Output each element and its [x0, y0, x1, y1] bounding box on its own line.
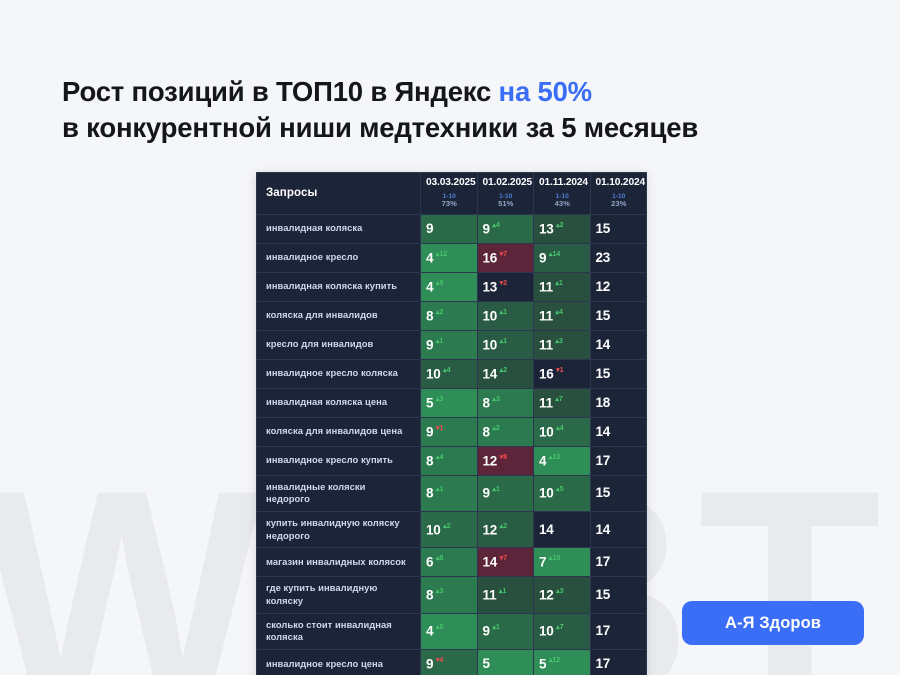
- rank-value: 9: [483, 624, 490, 639]
- rank-delta-up-icon: ▴3: [556, 586, 563, 595]
- rank-delta-up-icon: ▴14: [549, 249, 560, 258]
- rank-value: 10: [539, 486, 554, 501]
- rank-delta-up-icon: ▴1: [492, 484, 499, 493]
- rank-value: 5: [426, 395, 433, 410]
- rank-value: 7: [539, 555, 546, 570]
- rank-cell: 9▾4: [421, 650, 478, 675]
- rank-value: 9: [426, 337, 433, 352]
- rank-value: 10: [539, 424, 554, 439]
- header-date-box: 01.10.20241-1023%: [591, 173, 647, 214]
- rank-cell: 10▴2: [421, 512, 478, 548]
- rank-delta-up-icon: ▴9: [436, 278, 443, 287]
- rank-value: 12: [483, 453, 498, 468]
- rank-value: 14: [596, 424, 611, 439]
- rank-delta-up-icon: ▴3: [436, 586, 443, 595]
- rank-cell: 14▾7: [477, 548, 534, 577]
- rank-value: 8: [426, 453, 433, 468]
- rank-delta-up-icon: ▴7: [556, 622, 563, 631]
- rank-delta-up-icon: ▴2: [492, 423, 499, 432]
- rank-value: 9: [539, 250, 546, 265]
- rank-value: 12: [539, 587, 554, 602]
- query-cell: инвалидное кресло купить: [257, 446, 421, 475]
- rank-delta-up-icon: ▴2: [443, 521, 450, 530]
- rank-value: 11: [539, 337, 553, 352]
- query-cell: инвалидное кресло цена: [257, 650, 421, 675]
- header-date-box: 01.02.20251-1051%: [478, 173, 534, 214]
- rank-value: 15: [596, 485, 611, 500]
- rank-cell: 14: [590, 330, 647, 359]
- rank-delta-up-icon: ▴1: [500, 336, 507, 345]
- rank-value: 10: [539, 624, 554, 639]
- rank-value: 4: [426, 250, 433, 265]
- rank-cell: 10▴4: [421, 359, 478, 388]
- rank-delta-up-icon: ▴3: [555, 336, 562, 345]
- title-accent-part: на 50%: [499, 76, 592, 107]
- rank-delta-down-icon: ▾1: [436, 423, 443, 432]
- rank-cell: 11▴1: [534, 272, 591, 301]
- rank-delta-up-icon: ▴3: [492, 394, 499, 403]
- header-date-column-2: 01.02.20251-1051%: [477, 173, 534, 215]
- header-row: Запросы 03.03.20251-1073%01.02.20251-105…: [257, 173, 647, 215]
- rank-delta-up-icon: ▴1: [436, 336, 443, 345]
- table-row: инвалидные коляски недорого8▴19▴110▴515: [257, 475, 647, 511]
- rank-cell: 15: [590, 577, 647, 613]
- rank-delta-up-icon: ▴5: [556, 484, 563, 493]
- rank-cell: 10▴1: [477, 301, 534, 330]
- rank-cell: 9▴1: [477, 613, 534, 649]
- query-cell: где купить инвалидную коляску: [257, 577, 421, 613]
- rank-cell: 9▴14: [534, 243, 591, 272]
- rank-value: 17: [596, 623, 611, 638]
- rank-delta-up-icon: ▴7: [555, 394, 562, 403]
- rank-cell: 5▴12: [534, 650, 591, 675]
- rank-cell: 10▴5: [534, 475, 591, 511]
- rank-delta-up-icon: ▴2: [500, 521, 507, 530]
- query-cell: кресло для инвалидов: [257, 330, 421, 359]
- rank-cell: 6▴8: [421, 548, 478, 577]
- header-date-column-3: 01.11.20241-1043%: [534, 173, 591, 215]
- rank-delta-up-icon: ▴8: [436, 553, 443, 562]
- rank-cell: 7▴10: [534, 548, 591, 577]
- rank-value: 5: [483, 656, 490, 671]
- rank-value: 14: [596, 337, 611, 352]
- rank-delta-up-icon: ▴4: [555, 307, 562, 316]
- rank-value: 10: [426, 522, 441, 537]
- rank-cell: 12▴2: [477, 512, 534, 548]
- title-line-1: Рост позиций в ТОП10 в Яндекс на 50%: [62, 74, 698, 110]
- rank-delta-up-icon: ▴12: [549, 655, 560, 664]
- rank-delta-up-icon: ▴12: [436, 249, 447, 258]
- rank-cell: 10▴7: [534, 613, 591, 649]
- rank-delta-up-icon: ▴2: [436, 307, 443, 316]
- table-row: коляска для инвалидов цена9▾18▴210▴414: [257, 417, 647, 446]
- table-row: инвалидное кресло купить8▴412▾84▴1317: [257, 446, 647, 475]
- rank-table: Запросы 03.03.20251-1073%01.02.20251-105…: [256, 172, 647, 675]
- rank-cell: 17: [590, 613, 647, 649]
- rank-delta-down-icon: ▾7: [500, 249, 507, 258]
- rank-cell: 8▴2: [421, 301, 478, 330]
- rank-cell: 15: [590, 301, 647, 330]
- rank-cell: 17: [590, 650, 647, 675]
- rank-value: 17: [596, 554, 611, 569]
- rank-delta-up-icon: ▴1: [555, 278, 562, 287]
- rank-cell: 16▾1: [534, 359, 591, 388]
- header-date-label: 01.02.2025: [483, 177, 530, 190]
- rank-value: 23: [596, 250, 611, 265]
- header-percent-label: 43%: [539, 200, 586, 208]
- rank-delta-up-icon: ▴4: [492, 220, 499, 229]
- rank-value: 16: [539, 366, 554, 381]
- rank-cell: 13▾2: [477, 272, 534, 301]
- rank-cell: 16▾7: [477, 243, 534, 272]
- rank-value: 9: [483, 486, 490, 501]
- rank-cell: 12▾8: [477, 446, 534, 475]
- rank-value: 8: [426, 308, 433, 323]
- rank-cell: 14▴2: [477, 359, 534, 388]
- rank-value: 9: [426, 424, 433, 439]
- rank-delta-up-icon: ▴13: [549, 452, 560, 461]
- header-percent-label: 51%: [483, 200, 530, 208]
- rank-value: 18: [596, 395, 611, 410]
- rank-cell: 8▴3: [421, 577, 478, 613]
- rank-delta-up-icon: ▴1: [499, 586, 506, 595]
- rank-delta-up-icon: ▴2: [500, 365, 507, 374]
- rank-value: 9: [426, 656, 433, 671]
- rank-value: 14: [596, 522, 611, 537]
- query-cell: инвалидное кресло: [257, 243, 421, 272]
- rank-value: 10: [426, 366, 441, 381]
- query-cell: купить инвалидную коляску недорого: [257, 512, 421, 548]
- rank-value: 11: [539, 395, 553, 410]
- rank-value: 14: [483, 555, 498, 570]
- rank-value: 8: [483, 395, 490, 410]
- rank-value: 14: [483, 366, 498, 381]
- cta-button[interactable]: А-Я Здоров: [682, 601, 864, 645]
- table-row: инвалидная коляска купить4▴913▾211▴112: [257, 272, 647, 301]
- rank-delta-up-icon: ▴3: [436, 394, 443, 403]
- rank-value: 13: [539, 221, 554, 236]
- rank-cell: 4▴9: [421, 272, 478, 301]
- rank-value: 4: [539, 453, 546, 468]
- rank-cell: 9▴4: [477, 214, 534, 243]
- table-body: инвалидная коляска99▴413▴215инвалидное к…: [257, 214, 647, 675]
- table-row: сколько стоит инвалидная коляска4▴59▴110…: [257, 613, 647, 649]
- rank-delta-down-icon: ▾4: [436, 655, 443, 664]
- rank-value: 13: [483, 279, 498, 294]
- table-row: где купить инвалидную коляску8▴311▴112▴3…: [257, 577, 647, 613]
- query-cell: коляска для инвалидов цена: [257, 417, 421, 446]
- rank-value: 15: [596, 308, 611, 323]
- rank-delta-up-icon: ▴4: [436, 452, 443, 461]
- query-cell: инвалидные коляски недорого: [257, 475, 421, 511]
- rank-cell: 14: [534, 512, 591, 548]
- query-cell: инвалидная коляска купить: [257, 272, 421, 301]
- header-date-box: 01.11.20241-1043%: [534, 173, 590, 214]
- rank-value: 8: [426, 486, 433, 501]
- rank-delta-down-icon: ▾8: [500, 452, 507, 461]
- rank-delta-up-icon: ▴1: [436, 484, 443, 493]
- page-title: Рост позиций в ТОП10 в Яндекс на 50% в к…: [62, 74, 698, 147]
- rank-delta-up-icon: ▴4: [443, 365, 450, 374]
- rank-cell: 8▴4: [421, 446, 478, 475]
- query-cell: инвалидное кресло коляска: [257, 359, 421, 388]
- header-percent-label: 23%: [596, 200, 643, 208]
- rank-delta-up-icon: ▴1: [492, 622, 499, 631]
- rank-value: 12: [483, 522, 498, 537]
- rank-cell: 13▴2: [534, 214, 591, 243]
- rank-value: 4: [426, 279, 433, 294]
- rank-value: 17: [596, 656, 611, 671]
- query-cell: магазин инвалидных колясок: [257, 548, 421, 577]
- rank-cell: 23: [590, 243, 647, 272]
- rank-cell: 9▴1: [421, 330, 478, 359]
- rank-value: 9: [483, 221, 490, 236]
- rank-value: 8: [426, 587, 433, 602]
- table-row: инвалидная коляска99▴413▴215: [257, 214, 647, 243]
- rank-delta-down-icon: ▾2: [500, 278, 507, 287]
- rank-value: 15: [596, 366, 611, 381]
- header-date-label: 03.03.2025: [426, 177, 473, 190]
- rank-value: 8: [483, 424, 490, 439]
- rank-value: 10: [483, 308, 498, 323]
- rank-value: 15: [596, 221, 611, 236]
- rank-cell: 11▴4: [534, 301, 591, 330]
- rank-cell: 15: [590, 475, 647, 511]
- rank-value: 6: [426, 555, 433, 570]
- rank-value: 16: [483, 250, 498, 265]
- rank-table-card: Запросы 03.03.20251-1073%01.02.20251-105…: [256, 172, 646, 675]
- table-row: инвалидное кресло коляска10▴414▴216▾115: [257, 359, 647, 388]
- rank-cell: 8▴1: [421, 475, 478, 511]
- rank-cell: 8▴2: [477, 417, 534, 446]
- rank-delta-down-icon: ▾1: [556, 365, 563, 374]
- rank-value: 9: [426, 221, 433, 236]
- rank-cell: 9▾1: [421, 417, 478, 446]
- rank-cell: 9: [421, 214, 478, 243]
- rank-value: 17: [596, 453, 611, 468]
- rank-cell: 4▴13: [534, 446, 591, 475]
- rank-delta-up-icon: ▴2: [556, 220, 563, 229]
- title-text-part: Рост позиций в ТОП10 в Яндекс: [62, 76, 499, 107]
- rank-value: 4: [426, 624, 433, 639]
- rank-cell: 18: [590, 388, 647, 417]
- rank-delta-down-icon: ▾7: [500, 553, 507, 562]
- rank-value: 14: [539, 522, 554, 537]
- header-date-box: 03.03.20251-1073%: [421, 173, 477, 214]
- rank-delta-up-icon: ▴4: [556, 423, 563, 432]
- rank-cell: 15: [590, 214, 647, 243]
- query-cell: инвалидная коляска: [257, 214, 421, 243]
- header-date-label: 01.10.2024: [596, 177, 643, 190]
- query-cell: сколько стоит инвалидная коляска: [257, 613, 421, 649]
- rank-cell: 5: [477, 650, 534, 675]
- table-header: Запросы 03.03.20251-1073%01.02.20251-105…: [257, 173, 647, 215]
- rank-delta-up-icon: ▴1: [500, 307, 507, 316]
- query-cell: инвалидная коляска цена: [257, 388, 421, 417]
- rank-value: 10: [483, 337, 498, 352]
- table-row: кресло для инвалидов9▴110▴111▴314: [257, 330, 647, 359]
- header-queries: Запросы: [257, 173, 421, 215]
- rank-value: 15: [596, 587, 611, 602]
- rank-cell: 4▴5: [421, 613, 478, 649]
- rank-delta-up-icon: ▴5: [436, 622, 443, 631]
- table-row: магазин инвалидных колясок6▴814▾77▴1017: [257, 548, 647, 577]
- rank-cell: 15: [590, 359, 647, 388]
- rank-cell: 14: [590, 417, 647, 446]
- header-date-label: 01.11.2024: [539, 177, 586, 190]
- rank-cell: 12▴3: [534, 577, 591, 613]
- table-row: инвалидная коляска цена5▴38▴311▴718: [257, 388, 647, 417]
- table-row: инвалидное кресло цена9▾455▴1217: [257, 650, 647, 675]
- rank-cell: 17: [590, 446, 647, 475]
- rank-cell: 4▴12: [421, 243, 478, 272]
- table-row: купить инвалидную коляску недорого10▴212…: [257, 512, 647, 548]
- rank-cell: 12: [590, 272, 647, 301]
- rank-value: 5: [539, 656, 546, 671]
- rank-value: 11: [539, 308, 553, 323]
- rank-cell: 8▴3: [477, 388, 534, 417]
- header-percent-label: 73%: [426, 200, 473, 208]
- rank-value: 11: [539, 279, 553, 294]
- rank-cell: 9▴1: [477, 475, 534, 511]
- title-line-2: в конкурентной ниши медтехники за 5 меся…: [62, 110, 698, 146]
- table-row: инвалидное кресло4▴1216▾79▴1423: [257, 243, 647, 272]
- rank-cell: 14: [590, 512, 647, 548]
- rank-cell: 17: [590, 548, 647, 577]
- rank-cell: 11▴7: [534, 388, 591, 417]
- rank-value: 11: [483, 587, 497, 602]
- rank-cell: 10▴1: [477, 330, 534, 359]
- rank-delta-up-icon: ▴10: [549, 553, 560, 562]
- table-row: коляска для инвалидов8▴210▴111▴415: [257, 301, 647, 330]
- header-date-column-1: 03.03.20251-1073%: [421, 173, 478, 215]
- rank-value: 12: [596, 279, 611, 294]
- rank-cell: 11▴3: [534, 330, 591, 359]
- query-cell: коляска для инвалидов: [257, 301, 421, 330]
- header-date-column-4: 01.10.20241-1023%: [590, 173, 647, 215]
- rank-cell: 10▴4: [534, 417, 591, 446]
- rank-cell: 5▴3: [421, 388, 478, 417]
- rank-cell: 11▴1: [477, 577, 534, 613]
